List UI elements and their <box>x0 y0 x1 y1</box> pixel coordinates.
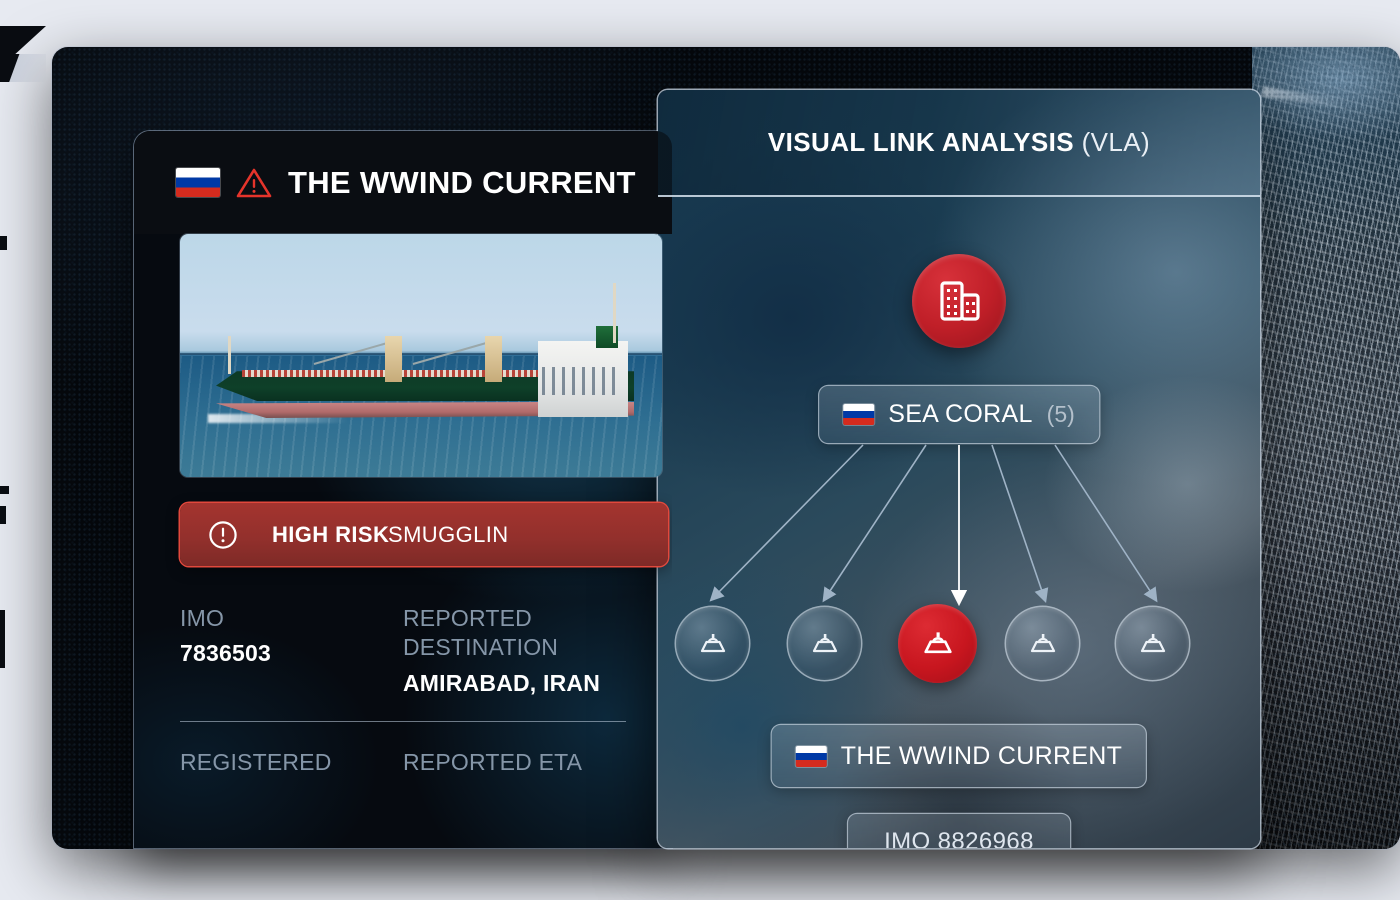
edge-to-vessel-4 <box>992 445 1044 597</box>
ship-icon <box>808 627 842 661</box>
detail-value: 7836503 <box>180 639 403 669</box>
edge-fragment <box>0 486 9 494</box>
vessel-card-header: THE WWIND CURRENT <box>134 131 672 234</box>
alert-circle-icon <box>208 520 238 550</box>
graph-edges <box>658 197 1260 846</box>
detail-row: REGISTERED REPORTED ETA <box>180 748 626 777</box>
ship-icon <box>1136 627 1170 661</box>
risk-category-label: SMUGGLIN <box>388 522 509 548</box>
vessel-name: THE WWIND CURRENT <box>288 165 636 201</box>
sea-aerial-photo <box>1252 47 1400 849</box>
detail-cell-imo: IMO 7836503 <box>180 604 403 699</box>
vessel-node-3-selected[interactable] <box>898 604 977 683</box>
risk-level-label: HIGH RISK <box>272 522 389 548</box>
ship-icon <box>1026 627 1060 661</box>
detail-label: REGISTERED <box>180 748 403 777</box>
detail-cell-registered: REGISTERED <box>180 748 403 777</box>
edge-fragment <box>0 236 7 250</box>
wake-streak <box>1262 86 1349 109</box>
vessel-node-5[interactable] <box>1116 607 1189 680</box>
detail-value: AMIRABAD, IRAN <box>403 669 626 699</box>
ship-icon <box>919 625 957 663</box>
warning-triangle-icon <box>236 167 272 199</box>
detail-label: REPORTED ETA <box>403 748 626 777</box>
screenshot-root: THE WWIND CURRENT HIGH RISK <box>0 0 1400 900</box>
vla-title-abbreviation: (VLA) <box>1082 127 1150 157</box>
detail-label: IMO <box>180 604 403 633</box>
ship-icon <box>696 627 730 661</box>
flag-russia-icon <box>176 168 220 197</box>
vessel-node-2[interactable] <box>788 607 861 680</box>
visual-link-analysis-panel: VISUAL LINK ANALYSIS (VLA) <box>658 90 1260 848</box>
vessel-node-1[interactable] <box>676 607 749 680</box>
risk-banner[interactable]: HIGH RISK SMUGGLIN <box>180 503 668 566</box>
vla-panel-header: VISUAL LINK ANALYSIS (VLA) <box>658 90 1260 197</box>
edge-fragment <box>0 610 5 668</box>
edge-to-vessel-5 <box>1055 445 1154 597</box>
vla-graph-canvas: SEA CORAL (5) <box>658 197 1260 846</box>
vessel-photo <box>180 234 662 477</box>
vessel-nodes-row <box>658 607 1260 685</box>
detail-cell-destination: REPORTED DESTINATION AMIRABAD, IRAN <box>403 604 626 699</box>
vessel-node-4[interactable] <box>1006 607 1079 680</box>
detail-row: IMO 7836503 REPORTED DESTINATION AMIRABA… <box>180 604 626 699</box>
vessel-detail-grid: IMO 7836503 REPORTED DESTINATION AMIRABA… <box>134 604 672 777</box>
detail-divider <box>180 721 626 722</box>
edge-fragment <box>0 506 6 524</box>
edge-fragment <box>0 54 46 82</box>
vessel-detail-card: THE WWIND CURRENT HIGH RISK <box>134 131 672 848</box>
detail-label: REPORTED DESTINATION <box>403 604 626 663</box>
vla-title-main: VISUAL LINK ANALYSIS <box>768 127 1074 157</box>
detail-cell-eta: REPORTED ETA <box>403 748 626 777</box>
vla-title: VISUAL LINK ANALYSIS (VLA) <box>768 127 1150 158</box>
